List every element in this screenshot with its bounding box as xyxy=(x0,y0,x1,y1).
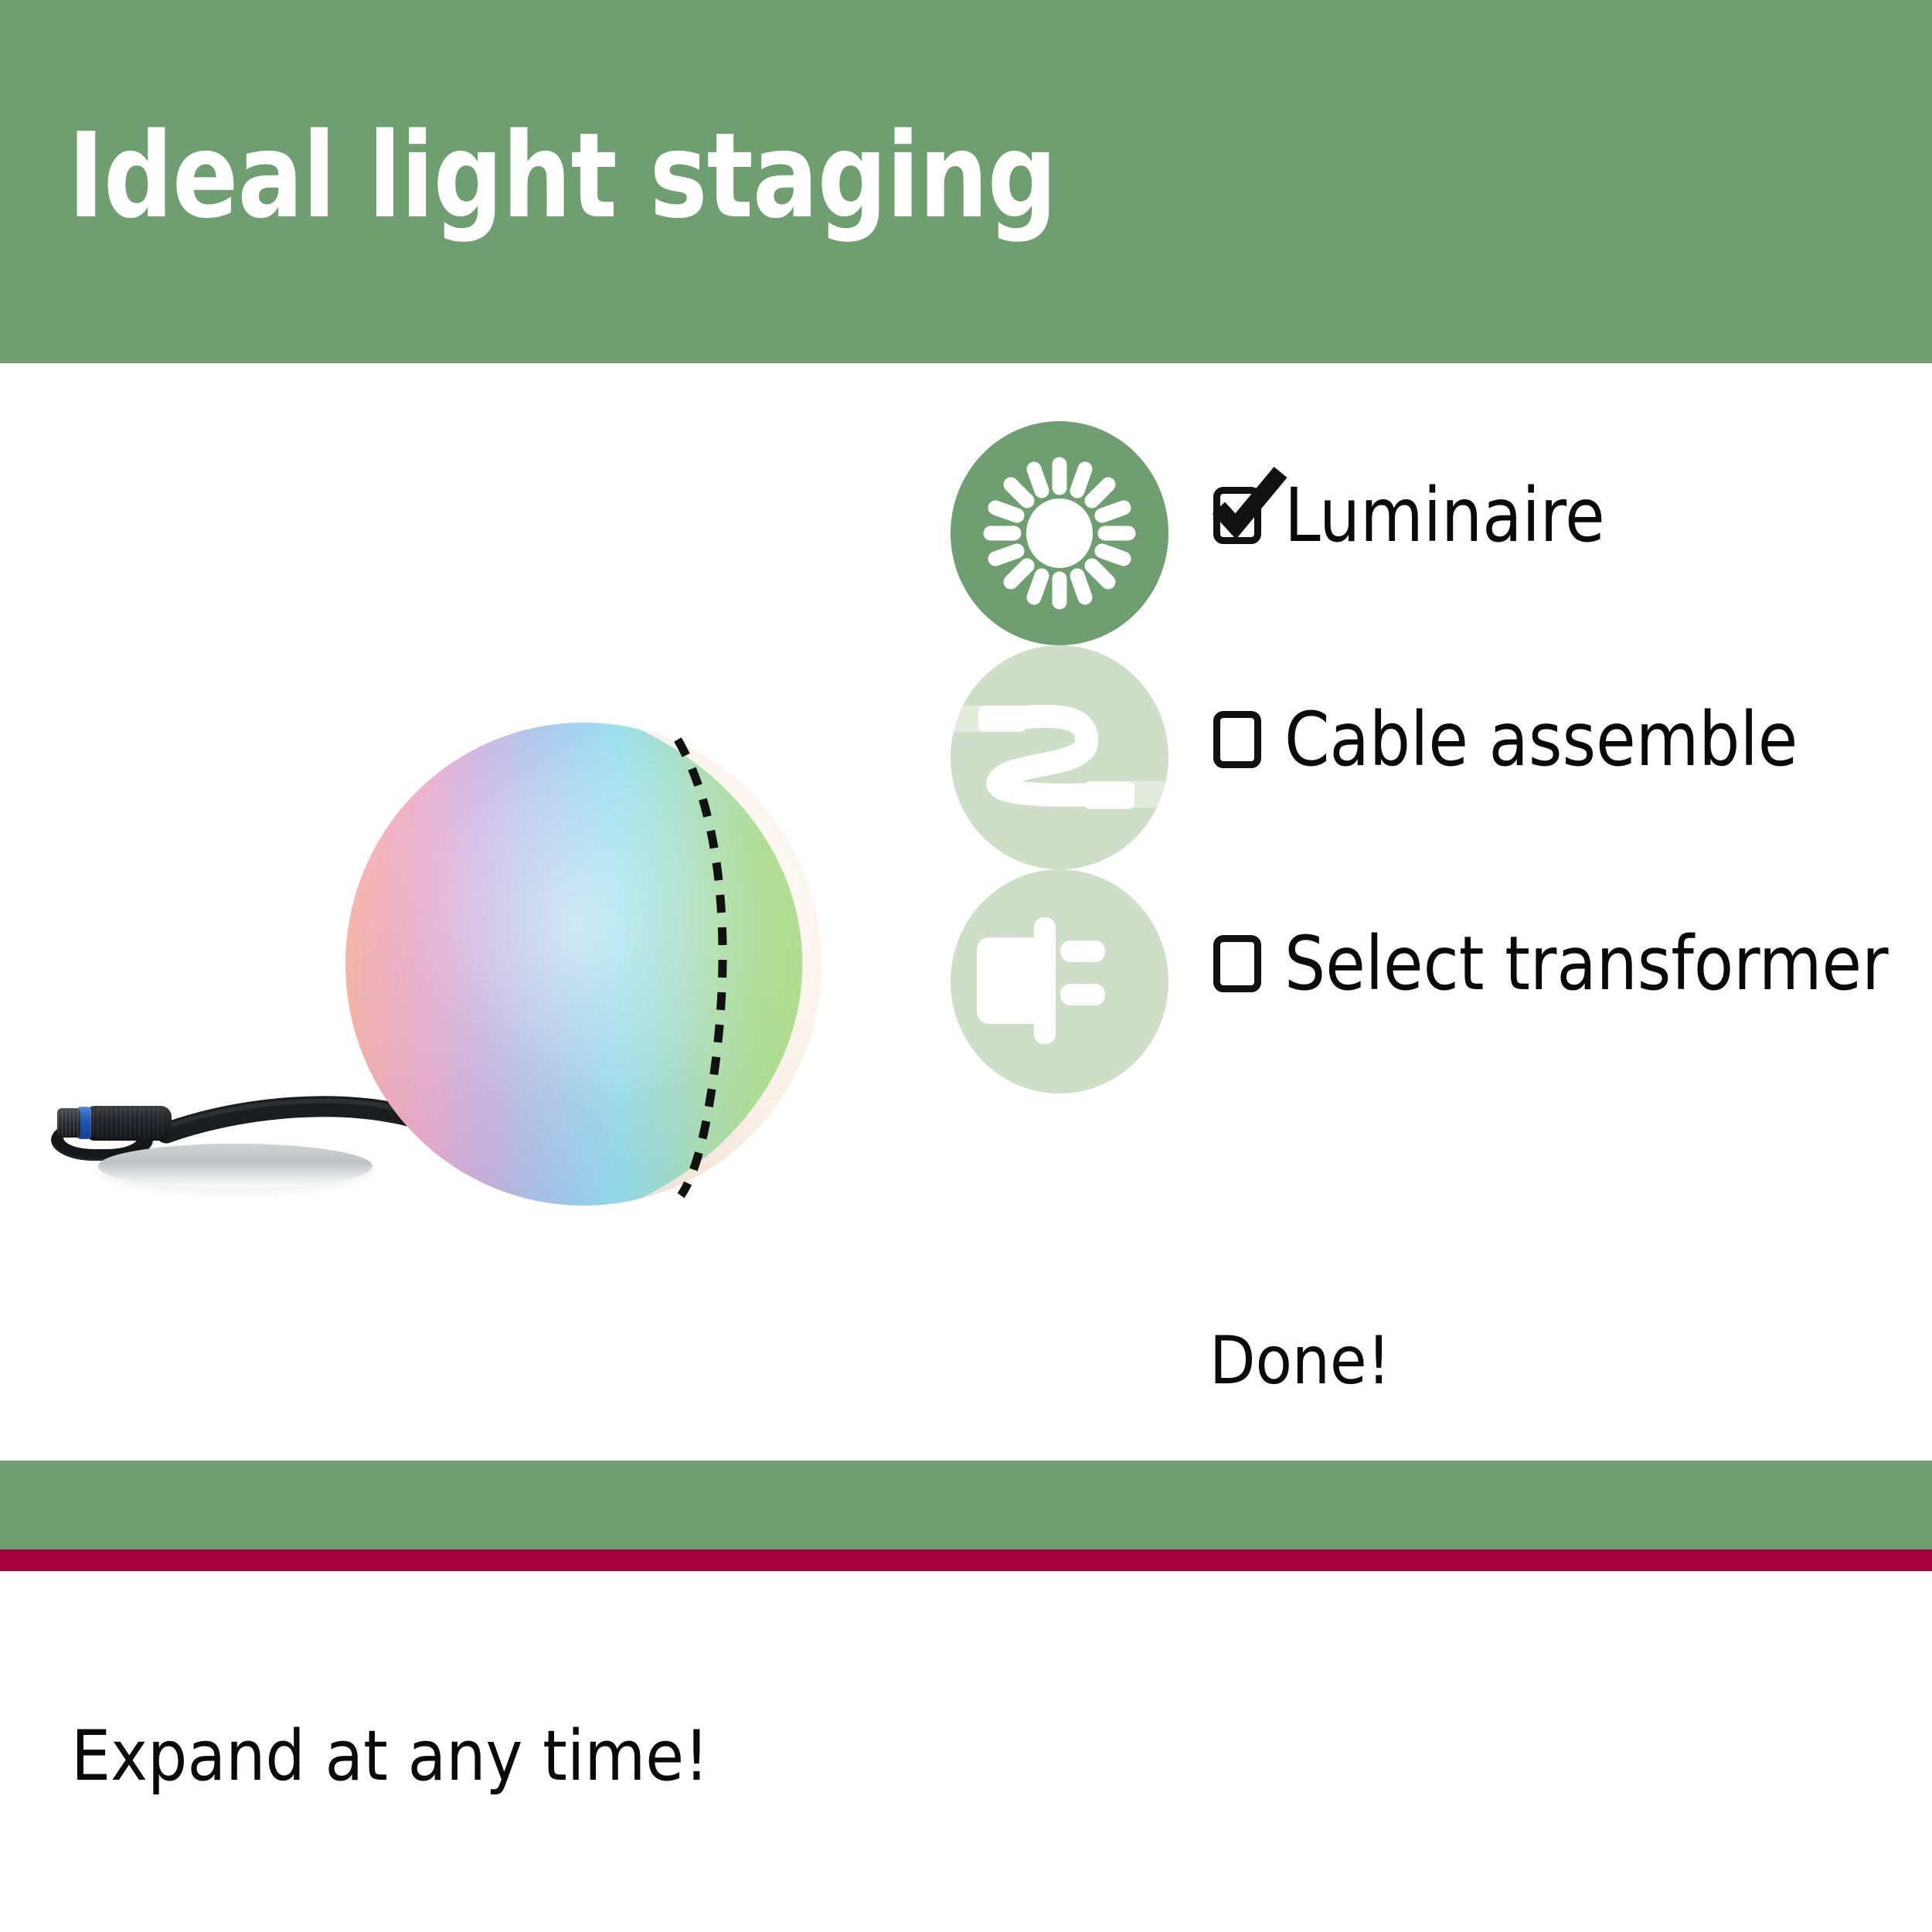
plug-icon xyxy=(951,869,1168,1094)
footer-red-accent-line xyxy=(0,1549,1932,1571)
cable-icon-circle xyxy=(951,645,1168,869)
plug-icon-circle xyxy=(951,869,1168,1094)
header-band: Ideal light staging xyxy=(0,0,1932,363)
done-status-text: Done! xyxy=(1209,1328,1391,1394)
checklist-item-label: Cable assemble xyxy=(1284,702,1798,777)
sun-icon-circle xyxy=(951,421,1168,645)
checkbox-luminaire[interactable] xyxy=(1213,487,1261,544)
connector-body-ribs xyxy=(93,1108,164,1138)
checklist-row-luminaire[interactable]: Luminaire xyxy=(951,421,1932,645)
footer-green-band xyxy=(0,1461,1932,1549)
checkbox-select-transformer[interactable] xyxy=(1213,935,1261,992)
connector-cap-ribs xyxy=(58,1110,79,1136)
cable-icon xyxy=(951,645,1168,869)
footer-note-text: Expand at any time! xyxy=(71,1722,709,1791)
checklist-label-group-select-transformer[interactable]: Select transformer xyxy=(1213,927,1907,1001)
sphere-dashed-seam xyxy=(345,723,821,1206)
checklist-label-group-cable-assemble[interactable]: Cable assemble xyxy=(1213,702,1814,777)
checklist-row-select-transformer[interactable]: Select transformer xyxy=(951,869,1932,1094)
page-title: Ideal light staging xyxy=(68,117,1056,235)
checkbox-cable-assemble[interactable] xyxy=(1213,711,1261,768)
assembly-checklist: Luminaire Cable assemble xyxy=(951,421,1932,1094)
check-icon xyxy=(1209,464,1290,545)
checklist-item-label: Luminaire xyxy=(1284,478,1605,553)
checklist-label-group-luminaire[interactable]: Luminaire xyxy=(1213,478,1615,553)
sphere-diffuser xyxy=(345,723,821,1206)
checklist-item-label: Select transformer xyxy=(1284,927,1889,1001)
sun-icon xyxy=(951,421,1168,645)
sphere-base-plate xyxy=(98,1144,372,1189)
checklist-row-cable-assemble[interactable]: Cable assemble xyxy=(951,645,1932,869)
product-image-sphere-lamp xyxy=(0,680,927,1252)
